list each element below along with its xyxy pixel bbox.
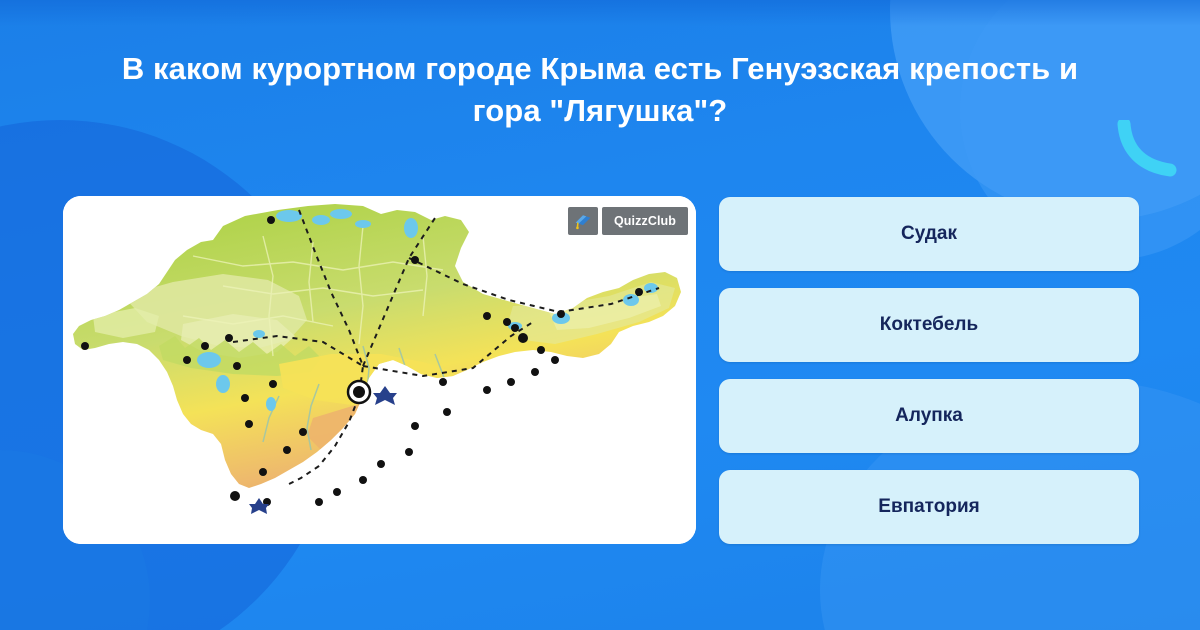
question-line-2: гора "Лягушка"? — [50, 90, 1150, 132]
page-title: В каком курортном городе Крыма есть Гену… — [50, 48, 1150, 132]
answer-option-2-label: Коктебель — [880, 314, 978, 336]
answer-option-3-label: Алупка — [895, 405, 963, 427]
question-image-card: QuizzClub — [63, 196, 696, 544]
watermark-label: QuizzClub — [602, 207, 688, 235]
answer-list: Судак Коктебель Алупка Евпатория — [719, 197, 1139, 561]
quizzclub-watermark: QuizzClub — [568, 207, 688, 235]
question-line-1: В каком курортном городе Крыма есть Гену… — [50, 48, 1150, 90]
quiz-question-card: В каком курортном городе Крыма есть Гену… — [0, 0, 1200, 630]
map-capital-marker — [348, 381, 370, 403]
answer-option-2[interactable]: Коктебель — [719, 288, 1139, 362]
answer-option-4[interactable]: Евпатория — [719, 470, 1139, 544]
answer-option-4-label: Евпатория — [878, 496, 979, 518]
crimea-map-svg — [63, 196, 696, 544]
answer-option-1-label: Судак — [901, 223, 957, 245]
graduation-cap-icon — [568, 207, 598, 235]
crimea-map — [63, 196, 696, 544]
answer-option-1[interactable]: Судак — [719, 197, 1139, 271]
background-top-band — [0, 0, 1200, 26]
answer-option-3[interactable]: Алупка — [719, 379, 1139, 453]
